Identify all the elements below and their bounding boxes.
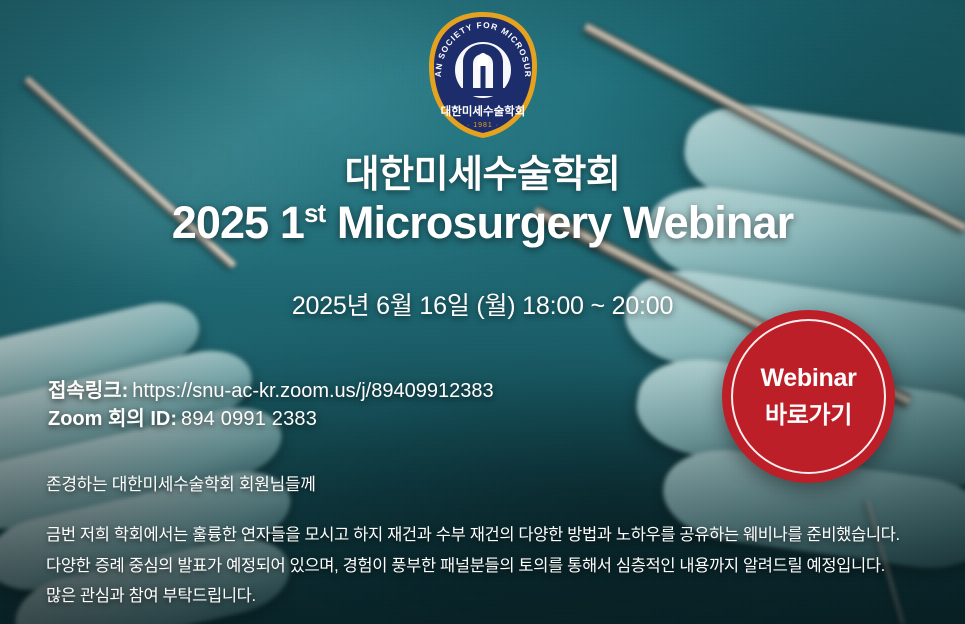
message-line: 다양한 증례 중심의 발표가 예정되어 있으며, 경험이 풍부한 패널분들의 토… (46, 551, 926, 582)
access-link-row: 접속링크:https://snu-ac-kr.zoom.us/j/8940991… (48, 377, 494, 405)
title-english-suffix: Microsurgery Webinar (325, 197, 793, 248)
title-english-ordinal: st (304, 198, 325, 228)
access-link-value[interactable]: https://snu-ac-kr.zoom.us/j/89409912383 (128, 380, 493, 402)
message-body: 금번 저희 학회에서는 훌륭한 연자들을 모시고 하지 재건과 수부 재건의 다… (46, 520, 926, 612)
message-line: 많은 관심과 참여 부탁드립니다. (46, 581, 926, 612)
message-line: 금번 저희 학회에서는 훌륭한 연자들을 모시고 하지 재건과 수부 재건의 다… (46, 520, 926, 551)
society-emblem-icon: KOREAN SOCIETY FOR MICROSURGERY 대한미세수술학회… (421, 10, 545, 140)
page-title-english: 2025 1st Microsurgery Webinar (0, 197, 965, 248)
access-info: 접속링크:https://snu-ac-kr.zoom.us/j/8940991… (48, 377, 494, 434)
emblem-korean-name: 대한미세수술학회 (440, 104, 525, 118)
access-id-row: Zoom 회의 ID:894 0991 2383 (48, 405, 494, 433)
access-id-label: Zoom 회의 ID: (48, 408, 177, 430)
title-english-prefix: 2025 1 (172, 197, 304, 248)
cta-label-english: Webinar (760, 364, 856, 393)
cta-text: Webinar 바로가기 (722, 310, 895, 483)
cta-label-korean: 바로가기 (765, 395, 852, 430)
message-greeting: 존경하는 대한미세수술학회 회원님들께 (46, 470, 316, 495)
webinar-link-button[interactable]: Webinar 바로가기 (722, 310, 895, 483)
emblem-year: · 1981 · (466, 122, 498, 129)
society-emblem: KOREAN SOCIETY FOR MICROSURGERY 대한미세수술학회… (421, 10, 545, 140)
access-link-label: 접속링크: (48, 380, 128, 402)
access-id-value: 894 0991 2383 (177, 408, 317, 430)
webinar-poster: KOREAN SOCIETY FOR MICROSURGERY 대한미세수술학회… (0, 0, 965, 624)
page-title-korean: 대한미세수술학회 (0, 155, 965, 195)
emblem-base-bar (459, 88, 507, 96)
title-block: 대한미세수술학회 2025 1st Microsurgery Webinar (0, 155, 965, 249)
